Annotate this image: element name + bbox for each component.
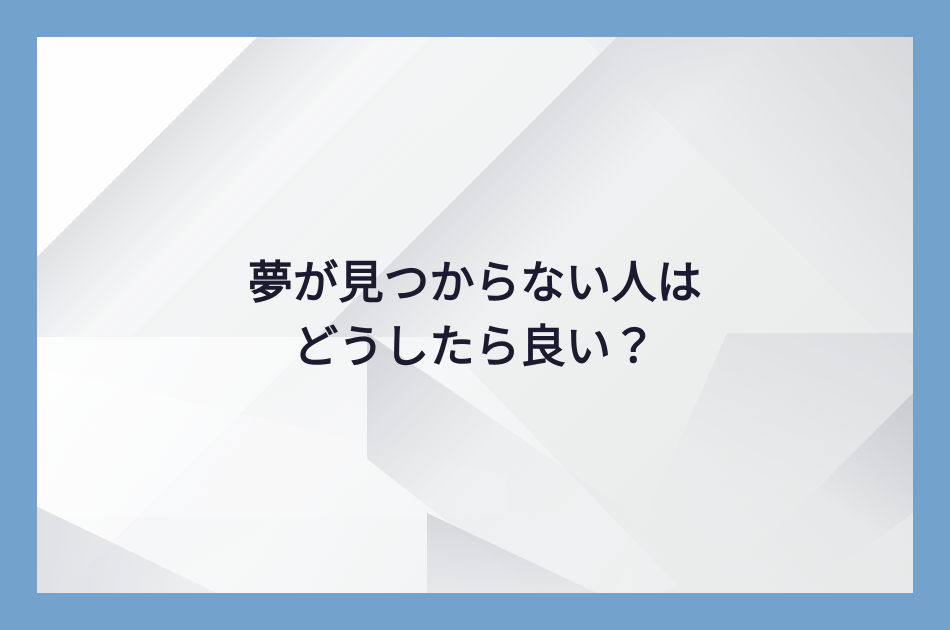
slide-frame: 夢が見つからない人は どうしたら良い？ (0, 0, 950, 630)
page-title: 夢が見つからない人は どうしたら良い？ (37, 37, 913, 593)
slide-card: 夢が見つからない人は どうしたら良い？ (37, 37, 913, 593)
headline-line-2: どうしたら良い？ (293, 315, 657, 379)
headline-line-1: 夢が見つからない人は (248, 251, 703, 315)
